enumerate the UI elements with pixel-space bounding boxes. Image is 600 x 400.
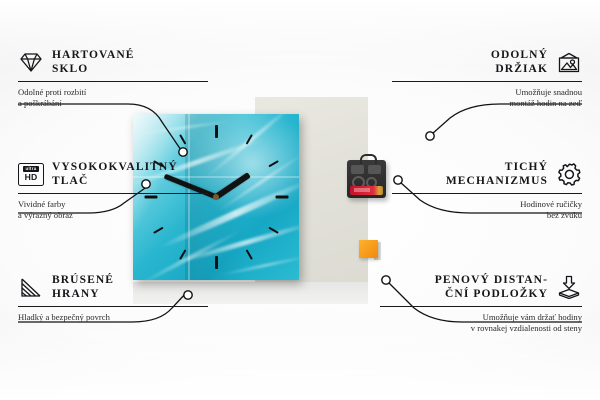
feature-title-line1: HARTOVANÉ	[52, 48, 135, 62]
feature-silent-mechanism: TICHÝ MECHANIZMUS Hodinové ručičky bez z…	[392, 160, 582, 221]
feature-title-line1: VYSOKOKVALITNÝ	[52, 160, 178, 174]
mechanism-slot	[351, 165, 364, 174]
feature-title-line1: BRÚSENÉ	[52, 273, 114, 287]
feature-title-line2: HRANY	[52, 287, 114, 301]
feature-desc-line2: a poškrábání	[18, 98, 208, 109]
feature-desc-line2: bez zvuku	[392, 210, 582, 221]
foam-spacer-pad	[359, 240, 378, 258]
feature-title-line1: ODOLNÝ	[491, 48, 548, 62]
battery-label	[354, 188, 370, 192]
feature-title-line2: SKLO	[52, 62, 135, 76]
feature-high-quality-print: ultra HD VYSOKOKVALITNÝ TLAČ Vividné far…	[18, 160, 208, 221]
divider	[392, 81, 582, 82]
feature-desc-line2: a výrazný obraz	[18, 210, 208, 221]
gear-icon	[556, 162, 582, 186]
feature-desc-line1: Odolné proti rozbití	[18, 87, 208, 98]
divider	[392, 193, 582, 194]
feature-durable-holder: ODOLNÝ DRŽIAK Umožňuje snadnou montáž ho…	[392, 48, 582, 109]
feature-title-line2: TLAČ	[52, 174, 178, 188]
battery	[350, 186, 383, 195]
feature-desc-line1: Hodinové ručičky	[392, 199, 582, 210]
divider	[380, 306, 582, 307]
clock-mechanism	[347, 160, 386, 198]
feature-title-line1: PENOVÝ DISTAN-	[435, 273, 548, 287]
connector-node-holder	[426, 132, 434, 140]
feature-tempered-glass: HARTOVANÉ SKLO Odolné proti rozbití a po…	[18, 48, 208, 109]
feature-desc-line1: Hladký a bezpečný povrch	[18, 312, 208, 323]
clock-center-pin	[213, 194, 219, 200]
feature-title-line2: DRŽIAK	[495, 62, 548, 76]
mechanism-slot	[368, 165, 381, 174]
feature-beveled-edges: BRÚSENÉ HRANY Hladký a bezpečný povrch	[18, 273, 208, 323]
beveled-edge-icon	[18, 275, 44, 299]
feature-desc-line2: v rovnakej vzdialenosti od steny	[380, 323, 582, 334]
divider	[18, 306, 208, 307]
feature-title-line2: MECHANIZMUS	[446, 174, 548, 188]
infographic-canvas: HARTOVANÉ SKLO Odolné proti rozbití a po…	[0, 0, 600, 400]
wall-mount-frame-icon	[556, 50, 582, 74]
divider	[18, 81, 208, 82]
divider	[18, 193, 208, 194]
feature-title-line2: ČNÍ PODLOŽKY	[445, 287, 548, 301]
badge-hd-label: HD	[25, 173, 38, 182]
feature-desc-line2: montáž hodin na zeď	[392, 98, 582, 109]
feature-desc-line1: Umožňuje snadnou	[392, 87, 582, 98]
feature-foam-spacers: PENOVÝ DISTAN- ČNÍ PODLOŽKY Umožňuje vám…	[380, 273, 582, 334]
mechanism-hanger-hook	[360, 154, 377, 164]
feature-title-line1: TICHÝ	[505, 160, 548, 174]
diamond-icon	[18, 50, 44, 74]
ultra-hd-badge-icon: ultra HD	[18, 162, 44, 186]
foam-spacer-press-icon	[556, 275, 582, 299]
feature-desc-line1: Vividné farby	[18, 199, 208, 210]
feature-desc-line1: Umožňuje vám držať hodiny	[380, 312, 582, 323]
